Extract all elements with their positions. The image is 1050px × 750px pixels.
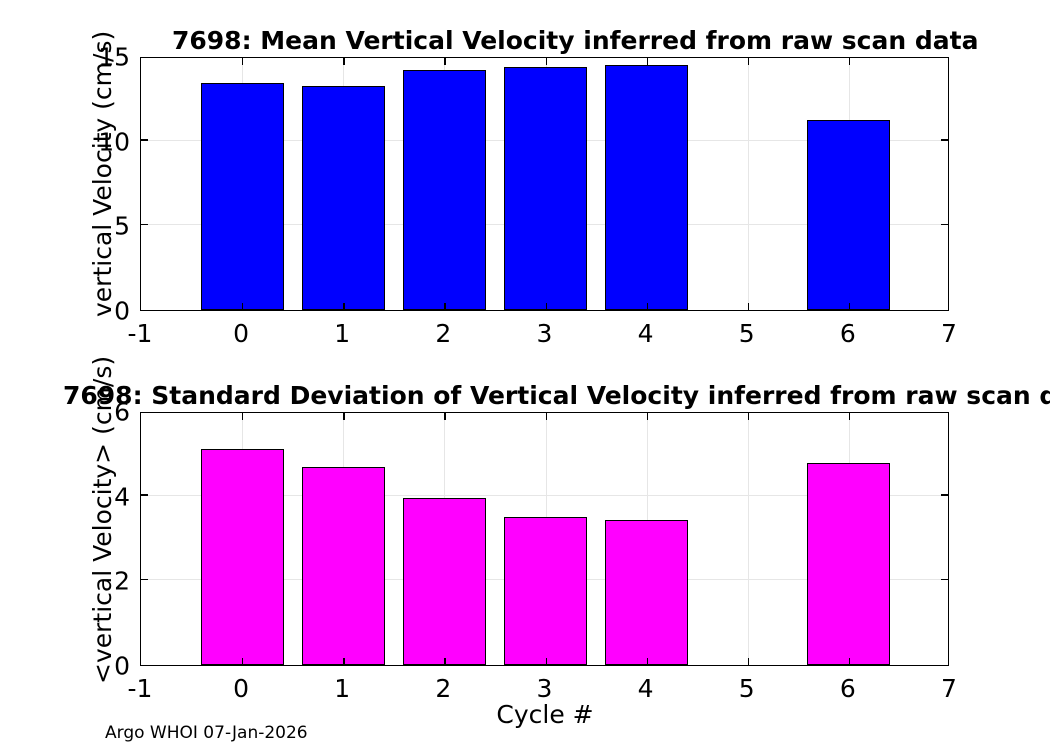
- y-tick-mark: [941, 139, 948, 140]
- y-tick-label: 6: [114, 398, 130, 427]
- y-tick-label: 2: [114, 567, 130, 596]
- x-tick-label: 7: [941, 319, 957, 348]
- x-tick-label: -1: [128, 674, 153, 703]
- figure-footer-credit: Argo WHOI 07-Jan-2026: [105, 723, 308, 743]
- x-tick-mark: [546, 413, 547, 420]
- x-tick-mark: [546, 303, 547, 310]
- x-tick-label: 3: [537, 319, 553, 348]
- plot-area-std-velocity: [141, 413, 948, 665]
- x-tick-mark: [444, 303, 445, 310]
- bar-cycle-4: [605, 520, 688, 665]
- y-tick-label: 5: [114, 212, 130, 241]
- y-tick-mark: [141, 224, 148, 225]
- x-tick-label: -1: [128, 319, 153, 348]
- x-tick-mark: [647, 658, 648, 665]
- figure-canvas: 7698: Mean Vertical Velocity inferred fr…: [0, 0, 1050, 750]
- x-tick-label: 4: [638, 674, 654, 703]
- x-tick-label: 5: [739, 319, 755, 348]
- x-tick-mark: [748, 58, 749, 65]
- x-tick-label: 0: [233, 674, 249, 703]
- bar-cycle-1: [302, 86, 385, 310]
- bar-cycle-3: [504, 517, 587, 665]
- x-tick-mark: [444, 58, 445, 65]
- x-tick-mark: [242, 58, 243, 65]
- x-tick-label: 2: [435, 319, 451, 348]
- x-tick-label: 2: [435, 674, 451, 703]
- y-tick-mark: [941, 224, 948, 225]
- x-tick-label: 1: [334, 319, 350, 348]
- bar-cycle-2: [403, 70, 486, 310]
- x-tick-mark: [444, 658, 445, 665]
- x-tick-mark: [849, 413, 850, 420]
- chart-title-mean-velocity: 7698: Mean Vertical Velocity inferred fr…: [172, 26, 978, 55]
- x-tick-mark: [849, 58, 850, 65]
- x-tick-label: 4: [638, 319, 654, 348]
- y-tick-mark: [941, 579, 948, 580]
- x-tick-mark: [647, 303, 648, 310]
- bar-cycle-0: [201, 83, 284, 310]
- x-tick-label: 6: [840, 674, 856, 703]
- x-tick-mark: [546, 658, 547, 665]
- bar-cycle-0: [201, 449, 284, 665]
- x-tick-mark: [546, 58, 547, 65]
- y-axis-label-std-velocity: <vertical Velocity> (cm/s): [88, 356, 117, 684]
- chart-title-std-velocity: 7698: Standard Deviation of Vertical Vel…: [63, 381, 1050, 410]
- x-tick-mark: [242, 303, 243, 310]
- x-axis-label-cycle: Cycle #: [496, 700, 593, 729]
- bar-cycle-4: [605, 65, 688, 310]
- x-tick-mark: [647, 58, 648, 65]
- bar-cycle-6: [807, 463, 890, 665]
- y-tick-label: 15: [98, 43, 130, 72]
- x-tick-mark: [242, 658, 243, 665]
- x-tick-mark: [343, 658, 344, 665]
- y-tick-mark: [141, 139, 148, 140]
- x-tick-label: 5: [739, 674, 755, 703]
- plot-axes-mean-velocity: [140, 57, 949, 311]
- y-tick-mark: [941, 494, 948, 495]
- y-tick-mark: [141, 579, 148, 580]
- x-tick-mark: [748, 303, 749, 310]
- x-tick-label: 0: [233, 319, 249, 348]
- x-gridline: [748, 413, 749, 665]
- plot-axes-std-velocity: [140, 412, 949, 666]
- x-gridline: [748, 58, 749, 310]
- y-tick-label: 4: [114, 482, 130, 511]
- x-tick-mark: [647, 413, 648, 420]
- bar-cycle-2: [403, 498, 486, 665]
- x-tick-mark: [849, 303, 850, 310]
- y-tick-label: 10: [98, 127, 130, 156]
- x-tick-mark: [242, 413, 243, 420]
- x-tick-label: 6: [840, 319, 856, 348]
- x-tick-mark: [748, 658, 749, 665]
- x-tick-mark: [343, 303, 344, 310]
- x-tick-mark: [343, 413, 344, 420]
- x-tick-mark: [343, 58, 344, 65]
- y-tick-mark: [141, 494, 148, 495]
- bar-cycle-6: [807, 120, 890, 311]
- bar-cycle-1: [302, 467, 385, 665]
- bar-cycle-3: [504, 67, 587, 310]
- plot-area-mean-velocity: [141, 58, 948, 310]
- x-tick-mark: [444, 413, 445, 420]
- x-tick-mark: [748, 413, 749, 420]
- x-tick-label: 7: [941, 674, 957, 703]
- x-tick-label: 1: [334, 674, 350, 703]
- y-axis-label-mean-velocity: vertical Velocity (cm/s): [88, 31, 117, 317]
- x-tick-label: 3: [537, 674, 553, 703]
- x-tick-mark: [849, 658, 850, 665]
